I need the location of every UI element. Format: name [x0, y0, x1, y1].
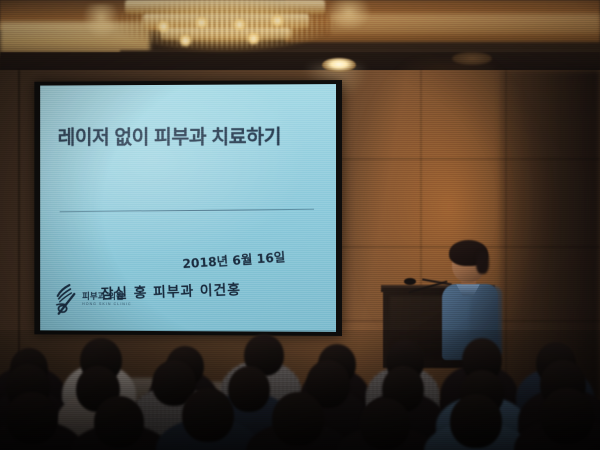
wall-corner-left — [18, 70, 20, 360]
chandelier-crystals — [101, 0, 349, 54]
chandelier-bulb — [179, 34, 192, 47]
slide-divider — [60, 209, 314, 213]
clinic-logo: 피부과 의원 HONG SKIN CLINIC — [54, 283, 144, 319]
wall-panel-seam — [330, 158, 600, 160]
audience-shadow-overlay — [0, 330, 600, 450]
projection-screen: 레이저 없이 피부과 치료하기 2018년 6월 16일 잠실 홍 피부과 이건… — [40, 84, 336, 332]
seated-audience — [0, 330, 600, 450]
hong-calligraphy-icon — [54, 283, 79, 317]
ceiling-spotlight-icon — [322, 58, 356, 72]
projection-screen-frame: 레이저 없이 피부과 치료하기 2018년 6월 16일 잠실 홍 피부과 이건… — [34, 80, 342, 336]
clinic-logo-subtitle: HONG SKIN CLINIC — [82, 302, 132, 306]
crystal-chandelier — [95, 0, 355, 58]
ceiling-spotlight-icon — [452, 52, 492, 65]
chandelier-bulb — [247, 32, 260, 45]
presentation-photo-scene: 레이저 없이 피부과 치료하기 2018년 6월 16일 잠실 홍 피부과 이건… — [0, 0, 600, 450]
slide-handwritten-date: 2018년 6월 16일 — [182, 246, 286, 272]
clinic-logo-name: 피부과 의원 — [82, 290, 124, 302]
chandelier-bulb — [233, 18, 246, 31]
presenter-hair-side — [476, 250, 489, 274]
slide-title: 레이저 없이 피부과 치료하기 — [58, 120, 282, 149]
chandelier-bulb — [157, 20, 170, 33]
chandelier-bulb — [195, 16, 208, 29]
chandelier-bulb — [271, 14, 284, 27]
microphone-head — [404, 278, 416, 285]
